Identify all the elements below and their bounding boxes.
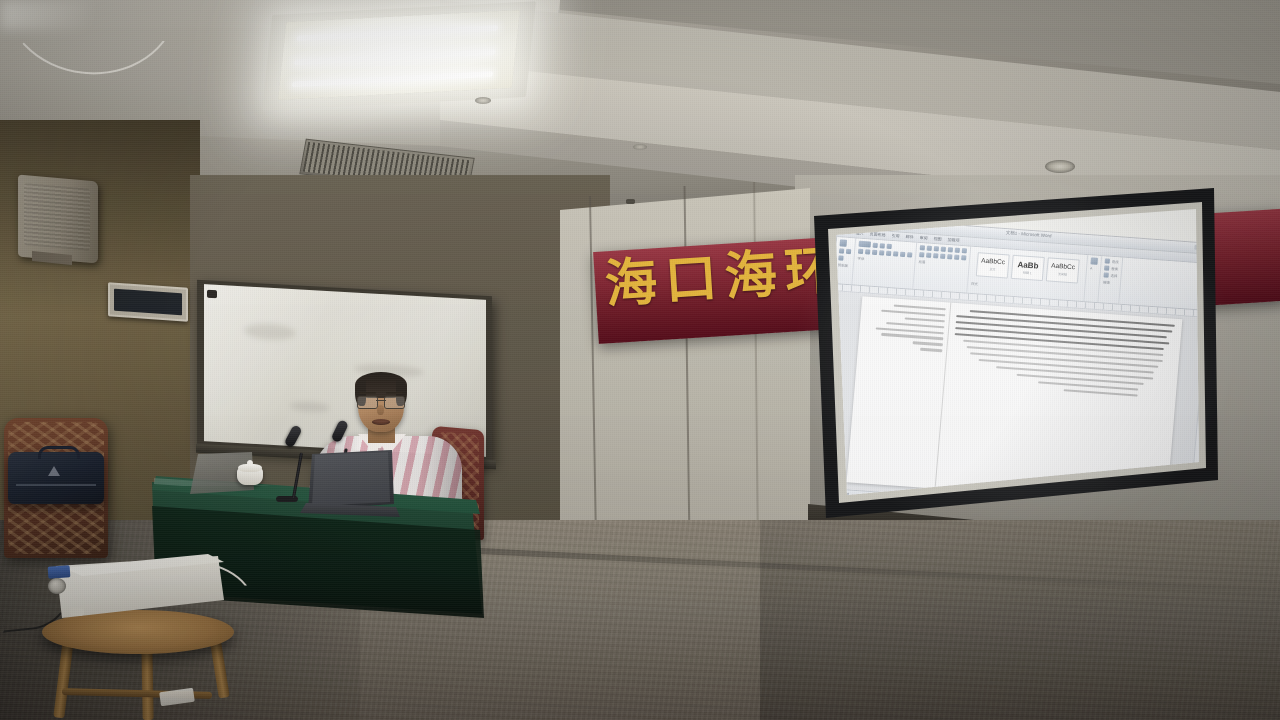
projector-foot <box>70 608 84 616</box>
ceiling-fluorescent-panel-light <box>278 10 520 100</box>
floor-right-shading <box>760 520 1280 720</box>
whiteboard-clip <box>207 290 217 299</box>
presenter-mouth <box>372 419 390 425</box>
projector-vga-connector <box>48 565 71 579</box>
ceiling-downlight <box>1045 160 1075 173</box>
lidded-teacup[interactable] <box>236 460 264 486</box>
bag-logo-icon <box>48 466 60 476</box>
conference-room-photo: 海口海环院环境 文档1 - Microsoft Word 开始 插入 页面布局 … <box>0 0 1280 720</box>
laptop-bag[interactable] <box>8 452 104 504</box>
wall-control-panel[interactable] <box>108 282 188 322</box>
wall-speaker <box>18 175 98 264</box>
projector-lens-icon <box>48 578 66 594</box>
partition-latch-knob[interactable] <box>626 199 635 204</box>
ceiling-downlight <box>633 144 647 150</box>
ceiling-downlight <box>475 97 491 104</box>
stool-leg <box>141 644 153 720</box>
